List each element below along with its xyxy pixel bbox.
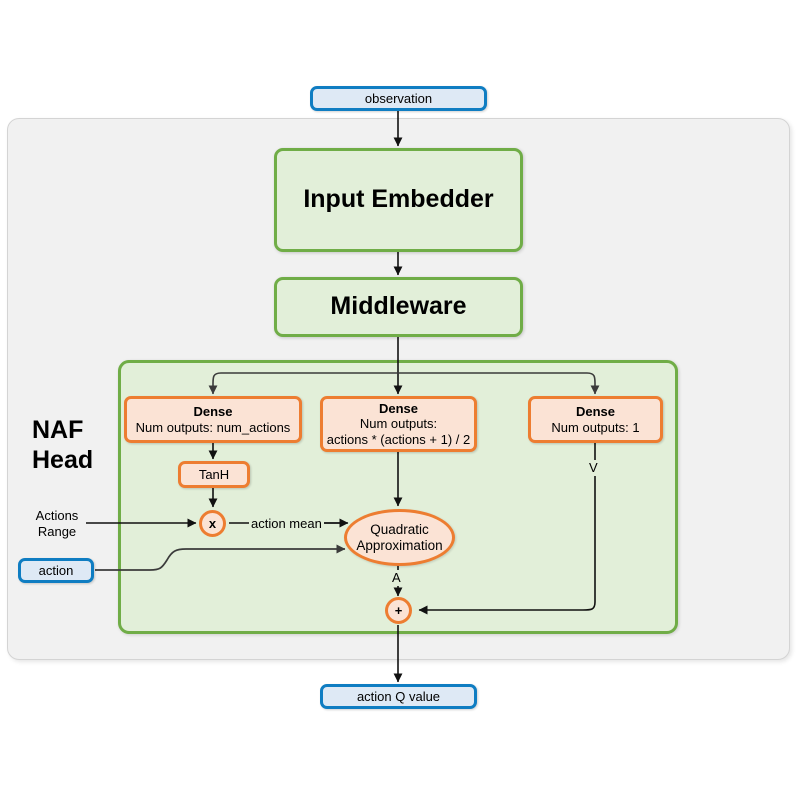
naf-head-title-line2: Head: [32, 445, 112, 475]
quadratic-approximation-node[interactable]: Quadratic Approximation: [344, 509, 455, 566]
diagram-canvas: observation Input Embedder Middleware NA…: [0, 0, 800, 800]
action-q-value-label: action Q value: [357, 689, 440, 704]
dense-l-detail-1: Num outputs:: [360, 416, 437, 431]
action-q-value-node[interactable]: action Q value: [320, 684, 477, 709]
dense-mu-title: Dense: [193, 404, 232, 419]
dense-mu-detail: Num outputs: num_actions: [136, 420, 291, 435]
tanh-label: TanH: [199, 467, 229, 482]
quadratic-label-line1: Quadratic: [370, 522, 429, 538]
naf-head-title: NAF Head: [32, 415, 112, 475]
observation-node[interactable]: observation: [310, 86, 487, 111]
input-embedder-node[interactable]: Input Embedder: [274, 148, 523, 252]
action-node[interactable]: action: [18, 558, 94, 583]
actions-range-label: Actions Range: [28, 508, 86, 541]
multiply-op-node[interactable]: x: [199, 510, 226, 537]
add-op-label: +: [395, 603, 403, 618]
dense-l-title: Dense: [379, 401, 418, 416]
input-embedder-label: Input Embedder: [303, 185, 493, 215]
add-op-node[interactable]: +: [385, 597, 412, 624]
value-label: V: [587, 460, 600, 476]
dense-v-title: Dense: [576, 404, 615, 419]
multiply-op-label: x: [209, 516, 216, 531]
observation-label: observation: [365, 91, 432, 106]
dense-v-node[interactable]: Dense Num outputs: 1: [528, 396, 663, 443]
dense-mu-node[interactable]: Dense Num outputs: num_actions: [124, 396, 302, 443]
dense-v-detail: Num outputs: 1: [551, 420, 639, 435]
advantage-label: A: [390, 570, 403, 586]
middleware-node[interactable]: Middleware: [274, 277, 523, 337]
quadratic-label-line2: Approximation: [356, 538, 442, 554]
dense-l-node[interactable]: Dense Num outputs: actions * (actions + …: [320, 396, 477, 452]
naf-head-title-line1: NAF: [32, 415, 112, 445]
tanh-node[interactable]: TanH: [178, 461, 250, 488]
actions-range-line1: Actions: [29, 508, 85, 524]
dense-l-detail-2: actions * (actions + 1) / 2: [327, 432, 470, 447]
action-mean-label: action mean: [249, 516, 324, 532]
actions-range-line2: Range: [29, 524, 85, 540]
middleware-label: Middleware: [330, 292, 466, 322]
action-label: action: [39, 563, 74, 578]
